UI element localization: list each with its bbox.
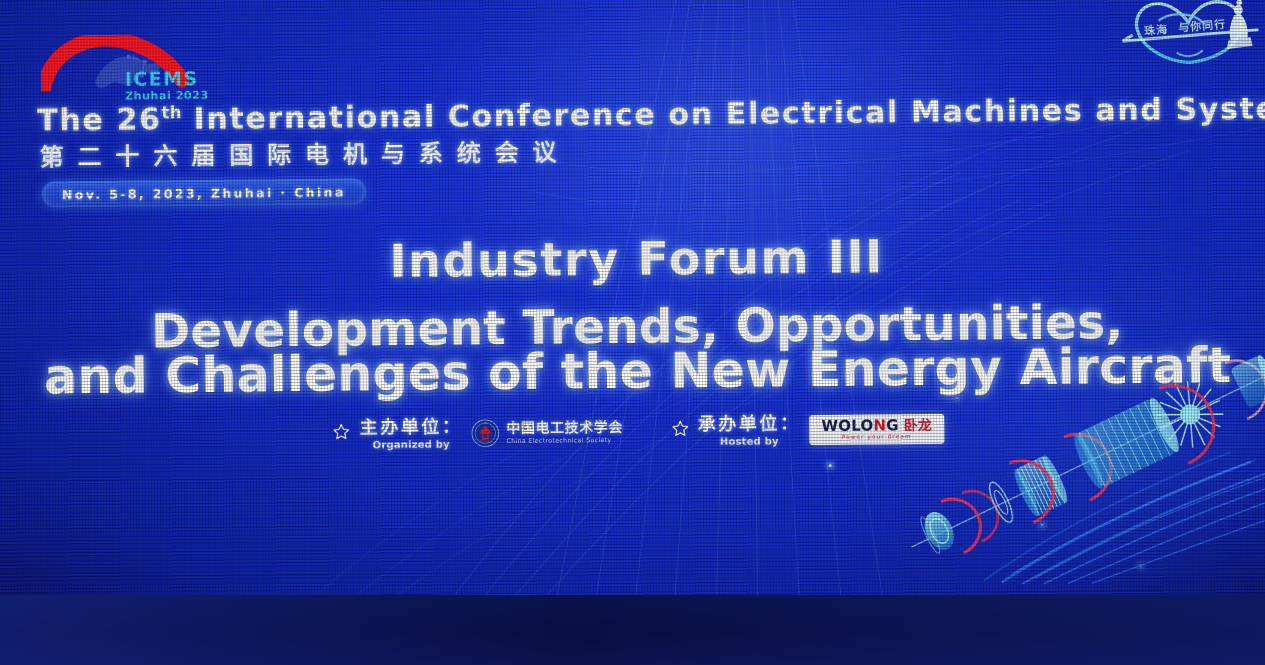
organized-by-label-en: Organized by: [373, 439, 450, 451]
ces-wordmark: 中国电工技术学会 China Electrotechnical Society: [506, 420, 623, 445]
photographed-led-screen: ICEMS Zhuhai 2023 The 26th International…: [0, 0, 1265, 665]
organized-by-label-cn: 主办单位：: [360, 417, 463, 439]
wolong-name-en: WOLONG: [821, 418, 898, 434]
screen-lower-frame: [0, 595, 1265, 665]
icems-logo: ICEMS Zhuhai 2023: [40, 34, 216, 111]
conference-title-en: The 26th International Conference on Ele…: [37, 91, 1265, 138]
led-panel: ICEMS Zhuhai 2023 The 26th International…: [0, 0, 1265, 616]
conference-title-en-prefix: The 26: [37, 102, 162, 138]
exploded-electric-motor-illustration: [889, 332, 1265, 586]
date-location-badge: Nov. 5-8, 2023, Zhuhai · China: [42, 178, 366, 207]
wolong-name-en-highlight: N: [873, 416, 886, 434]
ordinal-suffix: th: [161, 102, 181, 122]
svg-text:ICEMS: ICEMS: [125, 68, 199, 91]
forum-title: Industry Forum III: [0, 226, 1265, 292]
wolong-name-en-part1: WOLO: [821, 417, 873, 435]
star-outline-icon: [671, 419, 689, 437]
date-location-text: Nov. 5-8, 2023, Zhuhai · China: [62, 184, 346, 202]
star-outline-icon: [333, 423, 351, 441]
conference-title-en-rest: International Conference on Electrical M…: [181, 91, 1265, 137]
zhuhai-fisher-girl-emblem-icon: 珠海 与你同行: [1118, 0, 1265, 69]
svg-text:珠海: 珠海: [1144, 22, 1169, 38]
ces-name-cn: 中国电工技术学会: [506, 420, 623, 437]
conference-title-cn: 第二十六届国际电机与系统会议: [39, 132, 570, 172]
sponsor-organized-by: 主办单位： Organized by: [333, 416, 623, 451]
hosted-by-labels: 承办单位： Hosted by: [698, 414, 801, 448]
ces-name-en: China Electrotechnical Society: [506, 437, 623, 445]
hosted-by-label-en: Hosted by: [720, 436, 779, 448]
ces-emblem-icon: CES: [471, 419, 499, 447]
svg-text:Zhuhai 2023: Zhuhai 2023: [125, 89, 209, 103]
china-electrotechnical-society-logo: CES 中国电工技术学会 China Electrotechnical Soci…: [471, 418, 623, 447]
hosted-by-label-cn: 承办单位：: [698, 414, 801, 436]
organized-by-labels: 主办单位： Organized by: [360, 417, 463, 451]
